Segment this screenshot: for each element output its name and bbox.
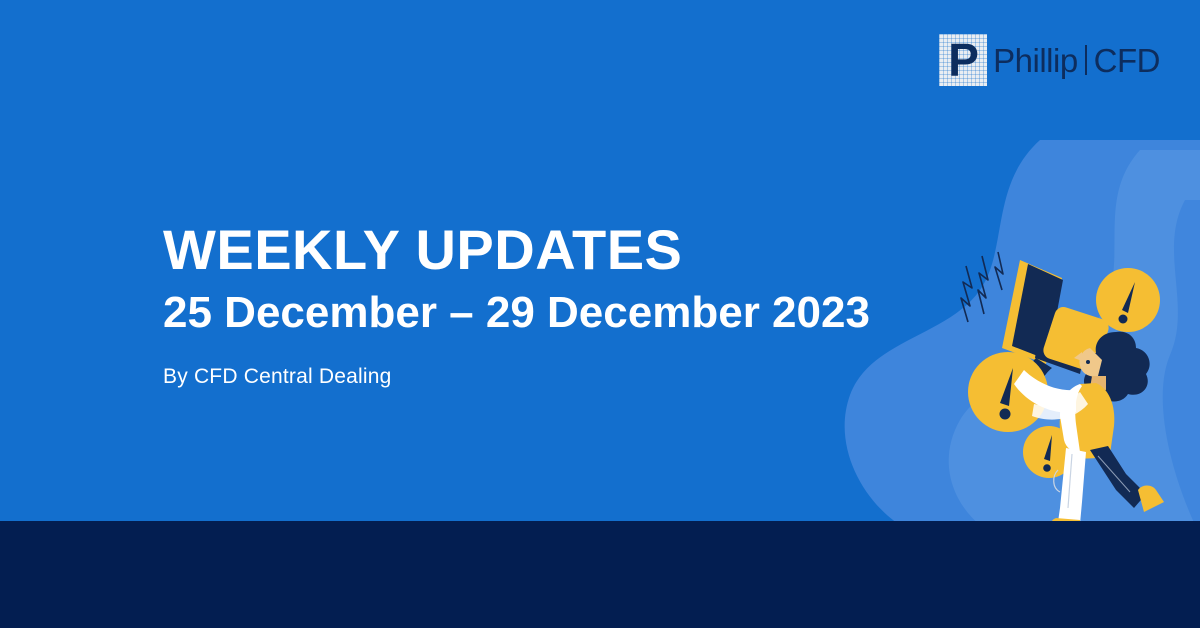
exclamation-circle-large-icon (968, 352, 1048, 432)
person-figure (1014, 332, 1164, 530)
headline-block: WEEKLY UPDATES 25 December – 29 December… (163, 222, 870, 389)
logo-product-text: CFD (1094, 44, 1160, 77)
date-range-subtitle: 25 December – 29 December 2023 (163, 290, 870, 336)
woman-with-megaphone-illustration (930, 240, 1200, 530)
logo-wordmark: Phillip CFD (993, 44, 1160, 77)
bottom-bar (0, 521, 1200, 628)
page-title: WEEKLY UPDATES (163, 222, 870, 278)
logo-brand-text: Phillip (993, 44, 1078, 77)
logo-separator (1085, 45, 1087, 75)
megaphone-icon (1002, 260, 1111, 400)
logo-mark-letter: P (948, 37, 978, 83)
byline: By CFD Central Dealing (163, 365, 870, 389)
weekly-updates-banner: P Phillip CFD WEEKLY UPDATES 25 December… (0, 0, 1200, 628)
exclamation-circle-small-icon (1023, 426, 1075, 478)
logo-mark-icon: P (939, 34, 987, 86)
sound-waves-icon (961, 252, 1003, 322)
background-blobs (840, 140, 1200, 525)
exclamation-circle-medium-icon (1096, 268, 1160, 332)
phillip-cfd-logo[interactable]: P Phillip CFD (939, 34, 1160, 86)
